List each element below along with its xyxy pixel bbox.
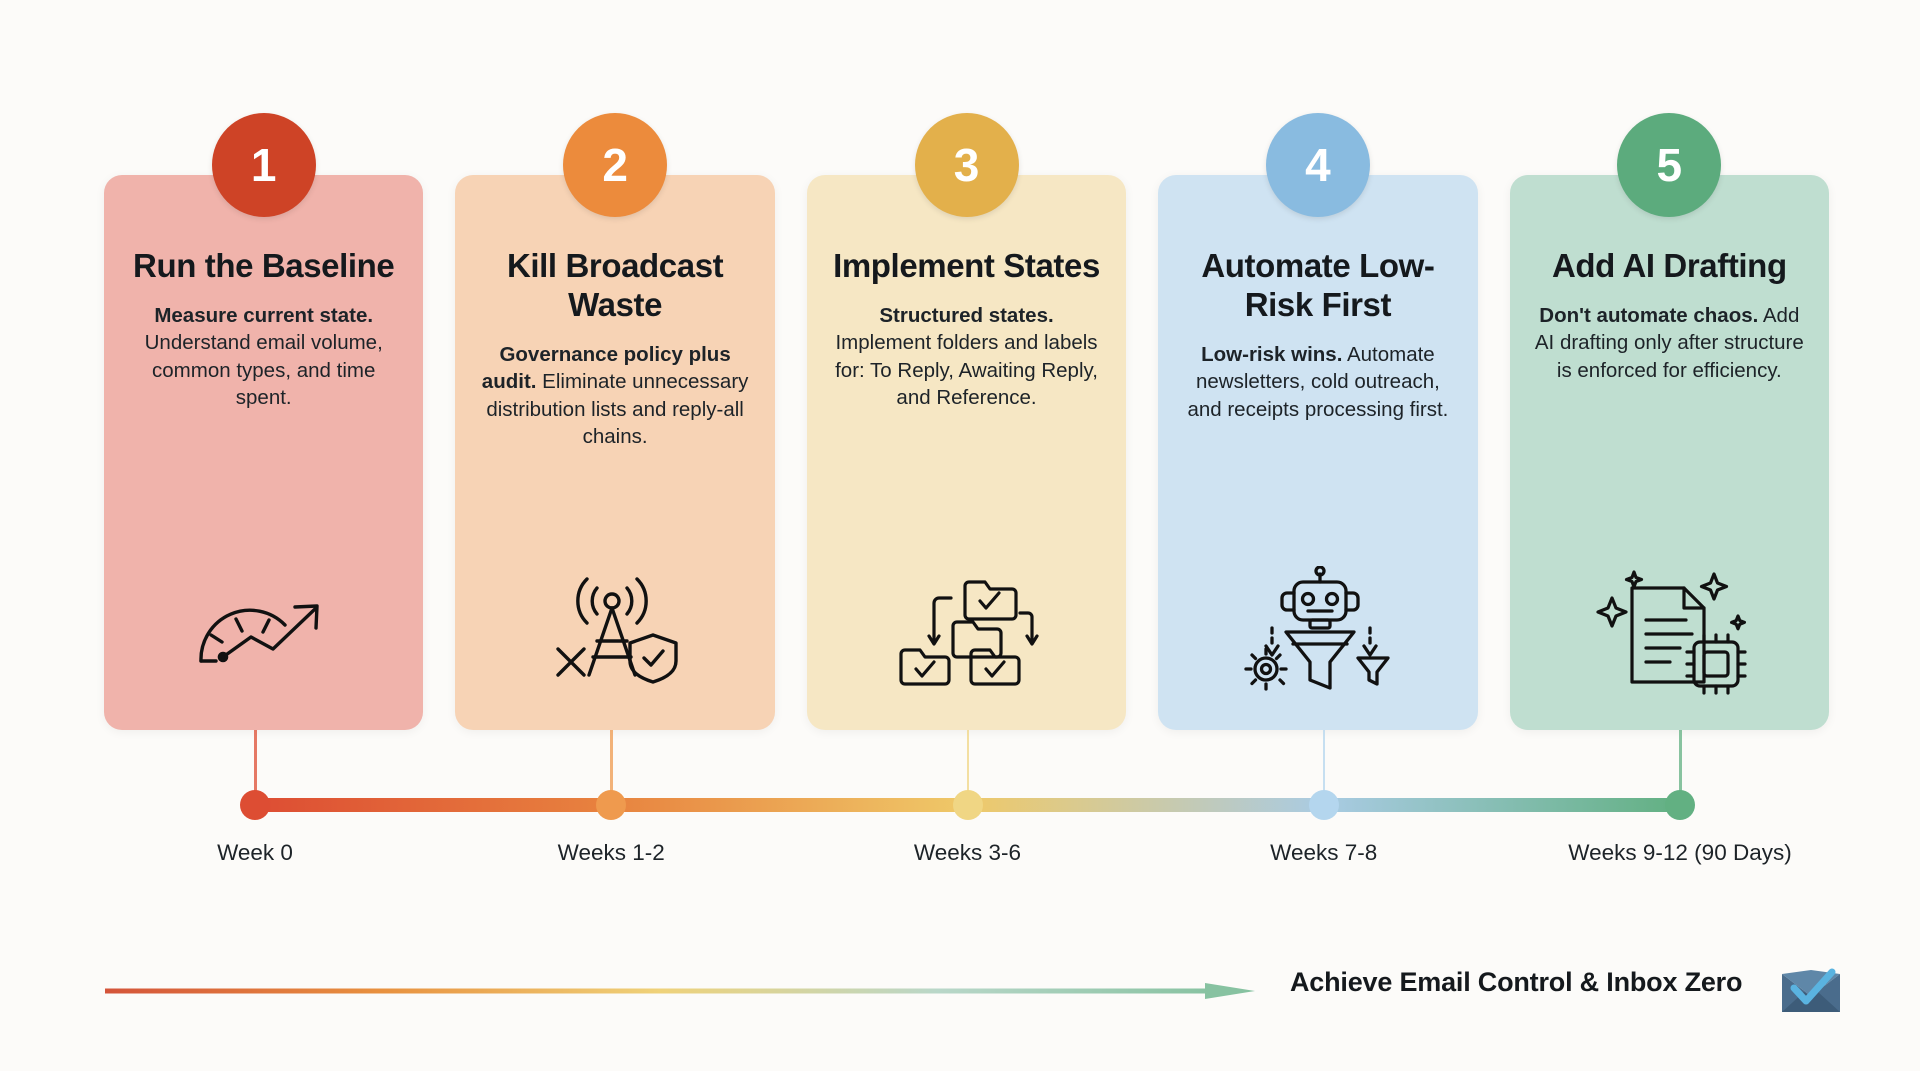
broadcast-tower-blocked-icon — [540, 564, 690, 696]
step-body-1: Measure current state. Understand email … — [126, 302, 401, 412]
step-title-4: Automate Low-Risk First — [1180, 247, 1455, 325]
step-card-1[interactable]: 1 Run the Baseline Measure current state… — [104, 175, 423, 730]
right-arrow-gradient-icon — [105, 983, 1255, 999]
step-card-2[interactable]: 2 Kill Broadcast Waste Governance policy… — [455, 175, 774, 730]
robot-funnel-icon — [1238, 564, 1398, 696]
step-body-5: Don't automate chaos. Add AI drafting on… — [1532, 302, 1807, 384]
step-number-badge-3: 3 — [915, 113, 1019, 217]
timeline-node-2[interactable] — [596, 790, 626, 820]
timeline-label-3: Weeks 3-6 — [914, 840, 1021, 866]
timeline-node-1[interactable] — [240, 790, 270, 820]
email-check-icon — [1780, 968, 1842, 1014]
timeline-node-5[interactable] — [1665, 790, 1695, 820]
timeline-label-5: Weeks 9-12 (90 Days) — [1568, 840, 1791, 866]
step-number-badge-4: 4 — [1266, 113, 1370, 217]
step-lead-3: Structured states. — [879, 304, 1053, 327]
step-number-badge-1: 1 — [212, 113, 316, 217]
step-number-3: 3 — [954, 142, 980, 188]
timeline-label-1: Week 0 — [217, 840, 293, 866]
step-card-5[interactable]: 5 Add AI Drafting Don't automate chaos. … — [1510, 175, 1829, 730]
gauge-growth-icon — [189, 564, 339, 696]
step-number-badge-5: 5 — [1617, 113, 1721, 217]
folder-workflow-icon — [891, 564, 1043, 696]
step-number-5: 5 — [1657, 142, 1683, 188]
step-lead-5: Don't automate chaos. — [1539, 304, 1758, 327]
timeline-label-2: Weeks 1-2 — [558, 840, 665, 866]
step-body-2: Governance policy plus audit. Eliminate … — [477, 341, 752, 451]
step-lead-1: Measure current state. — [154, 304, 373, 327]
step-detail-3: Implement folders and labels for: To Rep… — [835, 331, 1098, 409]
step-card-4[interactable]: 4 Automate Low-Risk First Low-risk wins.… — [1158, 175, 1477, 730]
step-number-2: 2 — [602, 142, 628, 188]
footer-goal-text: Achieve Email Control & Inbox Zero — [1290, 967, 1742, 998]
timeline-label-4: Weeks 7-8 — [1270, 840, 1377, 866]
timeline-node-4[interactable] — [1309, 790, 1339, 820]
step-title-3: Implement States — [833, 247, 1100, 286]
step-card-3[interactable]: 3 Implement States Structured states. Im… — [807, 175, 1126, 730]
step-title-1: Run the Baseline — [133, 247, 394, 286]
step-number-4: 4 — [1305, 142, 1331, 188]
step-body-3: Structured states. Implement folders and… — [829, 302, 1104, 412]
step-lead-4: Low-risk wins. — [1201, 343, 1342, 366]
step-number-badge-2: 2 — [563, 113, 667, 217]
step-title-5: Add AI Drafting — [1552, 247, 1787, 286]
ai-document-sparkle-icon — [1590, 564, 1748, 696]
step-detail-1: Understand email volume, common types, a… — [145, 331, 383, 409]
step-body-4: Low-risk wins. Automate newsletters, col… — [1180, 341, 1455, 423]
timeline-node-3[interactable] — [953, 790, 983, 820]
step-title-2: Kill Broadcast Waste — [477, 247, 752, 325]
infographic-canvas: 1 Run the Baseline Measure current state… — [0, 0, 1920, 1071]
step-number-1: 1 — [251, 142, 277, 188]
steps-row: 1 Run the Baseline Measure current state… — [104, 175, 1829, 730]
